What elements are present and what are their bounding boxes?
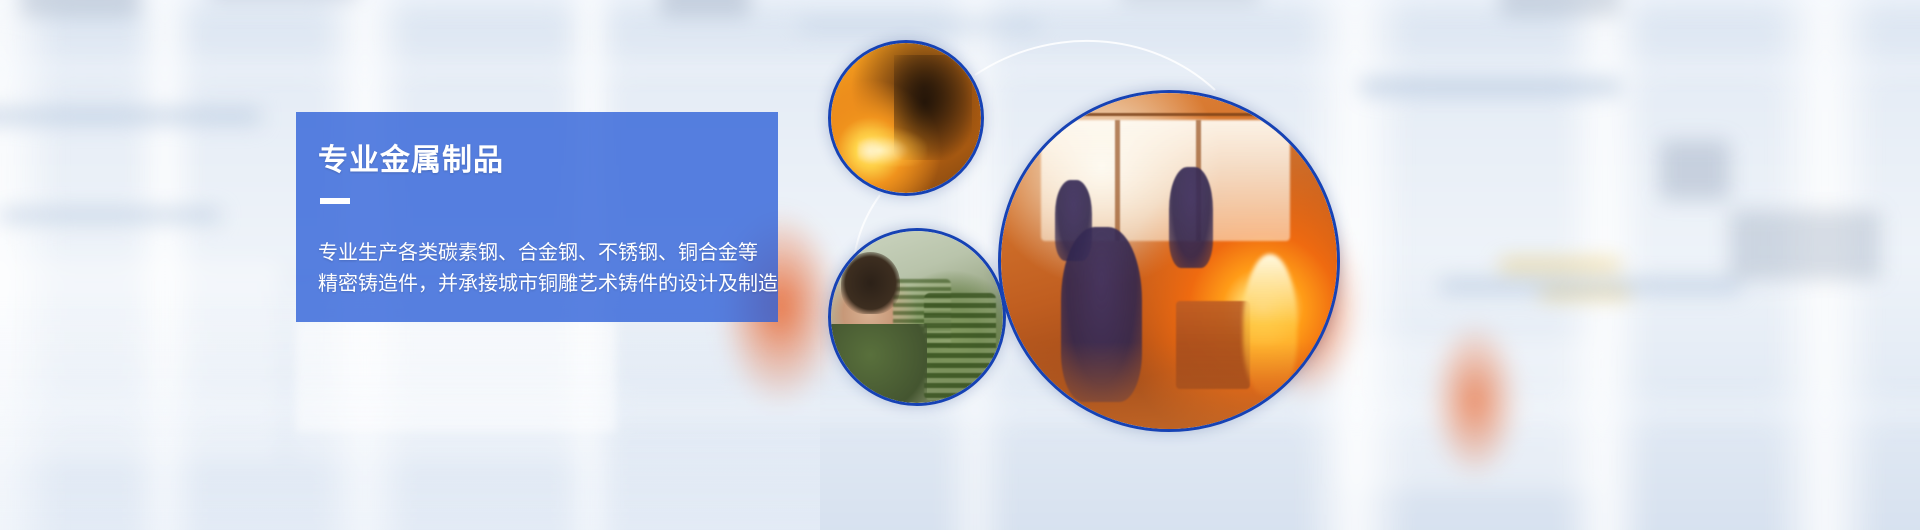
panel-title: 专业金属制品 [318, 146, 778, 176]
window-mullion [1115, 120, 1120, 241]
worker-head [841, 252, 899, 314]
circle-photo-foundry [998, 90, 1340, 432]
foundry-worker-mid [1169, 167, 1213, 268]
hero-text-panel: 专业金属制品 专业生产各类碳素钢、合金钢、不锈钢、铜合金等 精密铸造件，并承接城… [296, 112, 778, 322]
weld-spark-glow [858, 127, 927, 166]
circle-photo-worker [828, 228, 1006, 406]
hero-banner: 专业金属制品 专业生产各类碳素钢、合金钢、不锈钢、铜合金等 精密铸造件，并承接城… [0, 0, 1920, 530]
welding-photo-inner [831, 43, 981, 193]
panel-description: 专业生产各类碳素钢、合金钢、不锈钢、铜合金等 精密铸造件，并承接城市铜雕艺术铸件… [318, 238, 778, 300]
foundry-photo-inner [1001, 93, 1337, 429]
white-accent-block [296, 322, 616, 432]
panel-description-line-1: 专业生产各类碳素钢、合金钢、不锈钢、铜合金等 [318, 238, 778, 269]
foundry-floor [1001, 342, 1337, 429]
panel-divider [320, 198, 350, 204]
worker-uniform [831, 324, 927, 403]
circle-photo-welding [828, 40, 984, 196]
panel-description-line-2: 精密铸造件，并承接城市铜雕艺术铸件的设计及制造 [318, 269, 778, 300]
window-frame [1035, 113, 1297, 116]
component-rack-front [924, 293, 996, 400]
worker-photo-inner [831, 231, 1003, 403]
